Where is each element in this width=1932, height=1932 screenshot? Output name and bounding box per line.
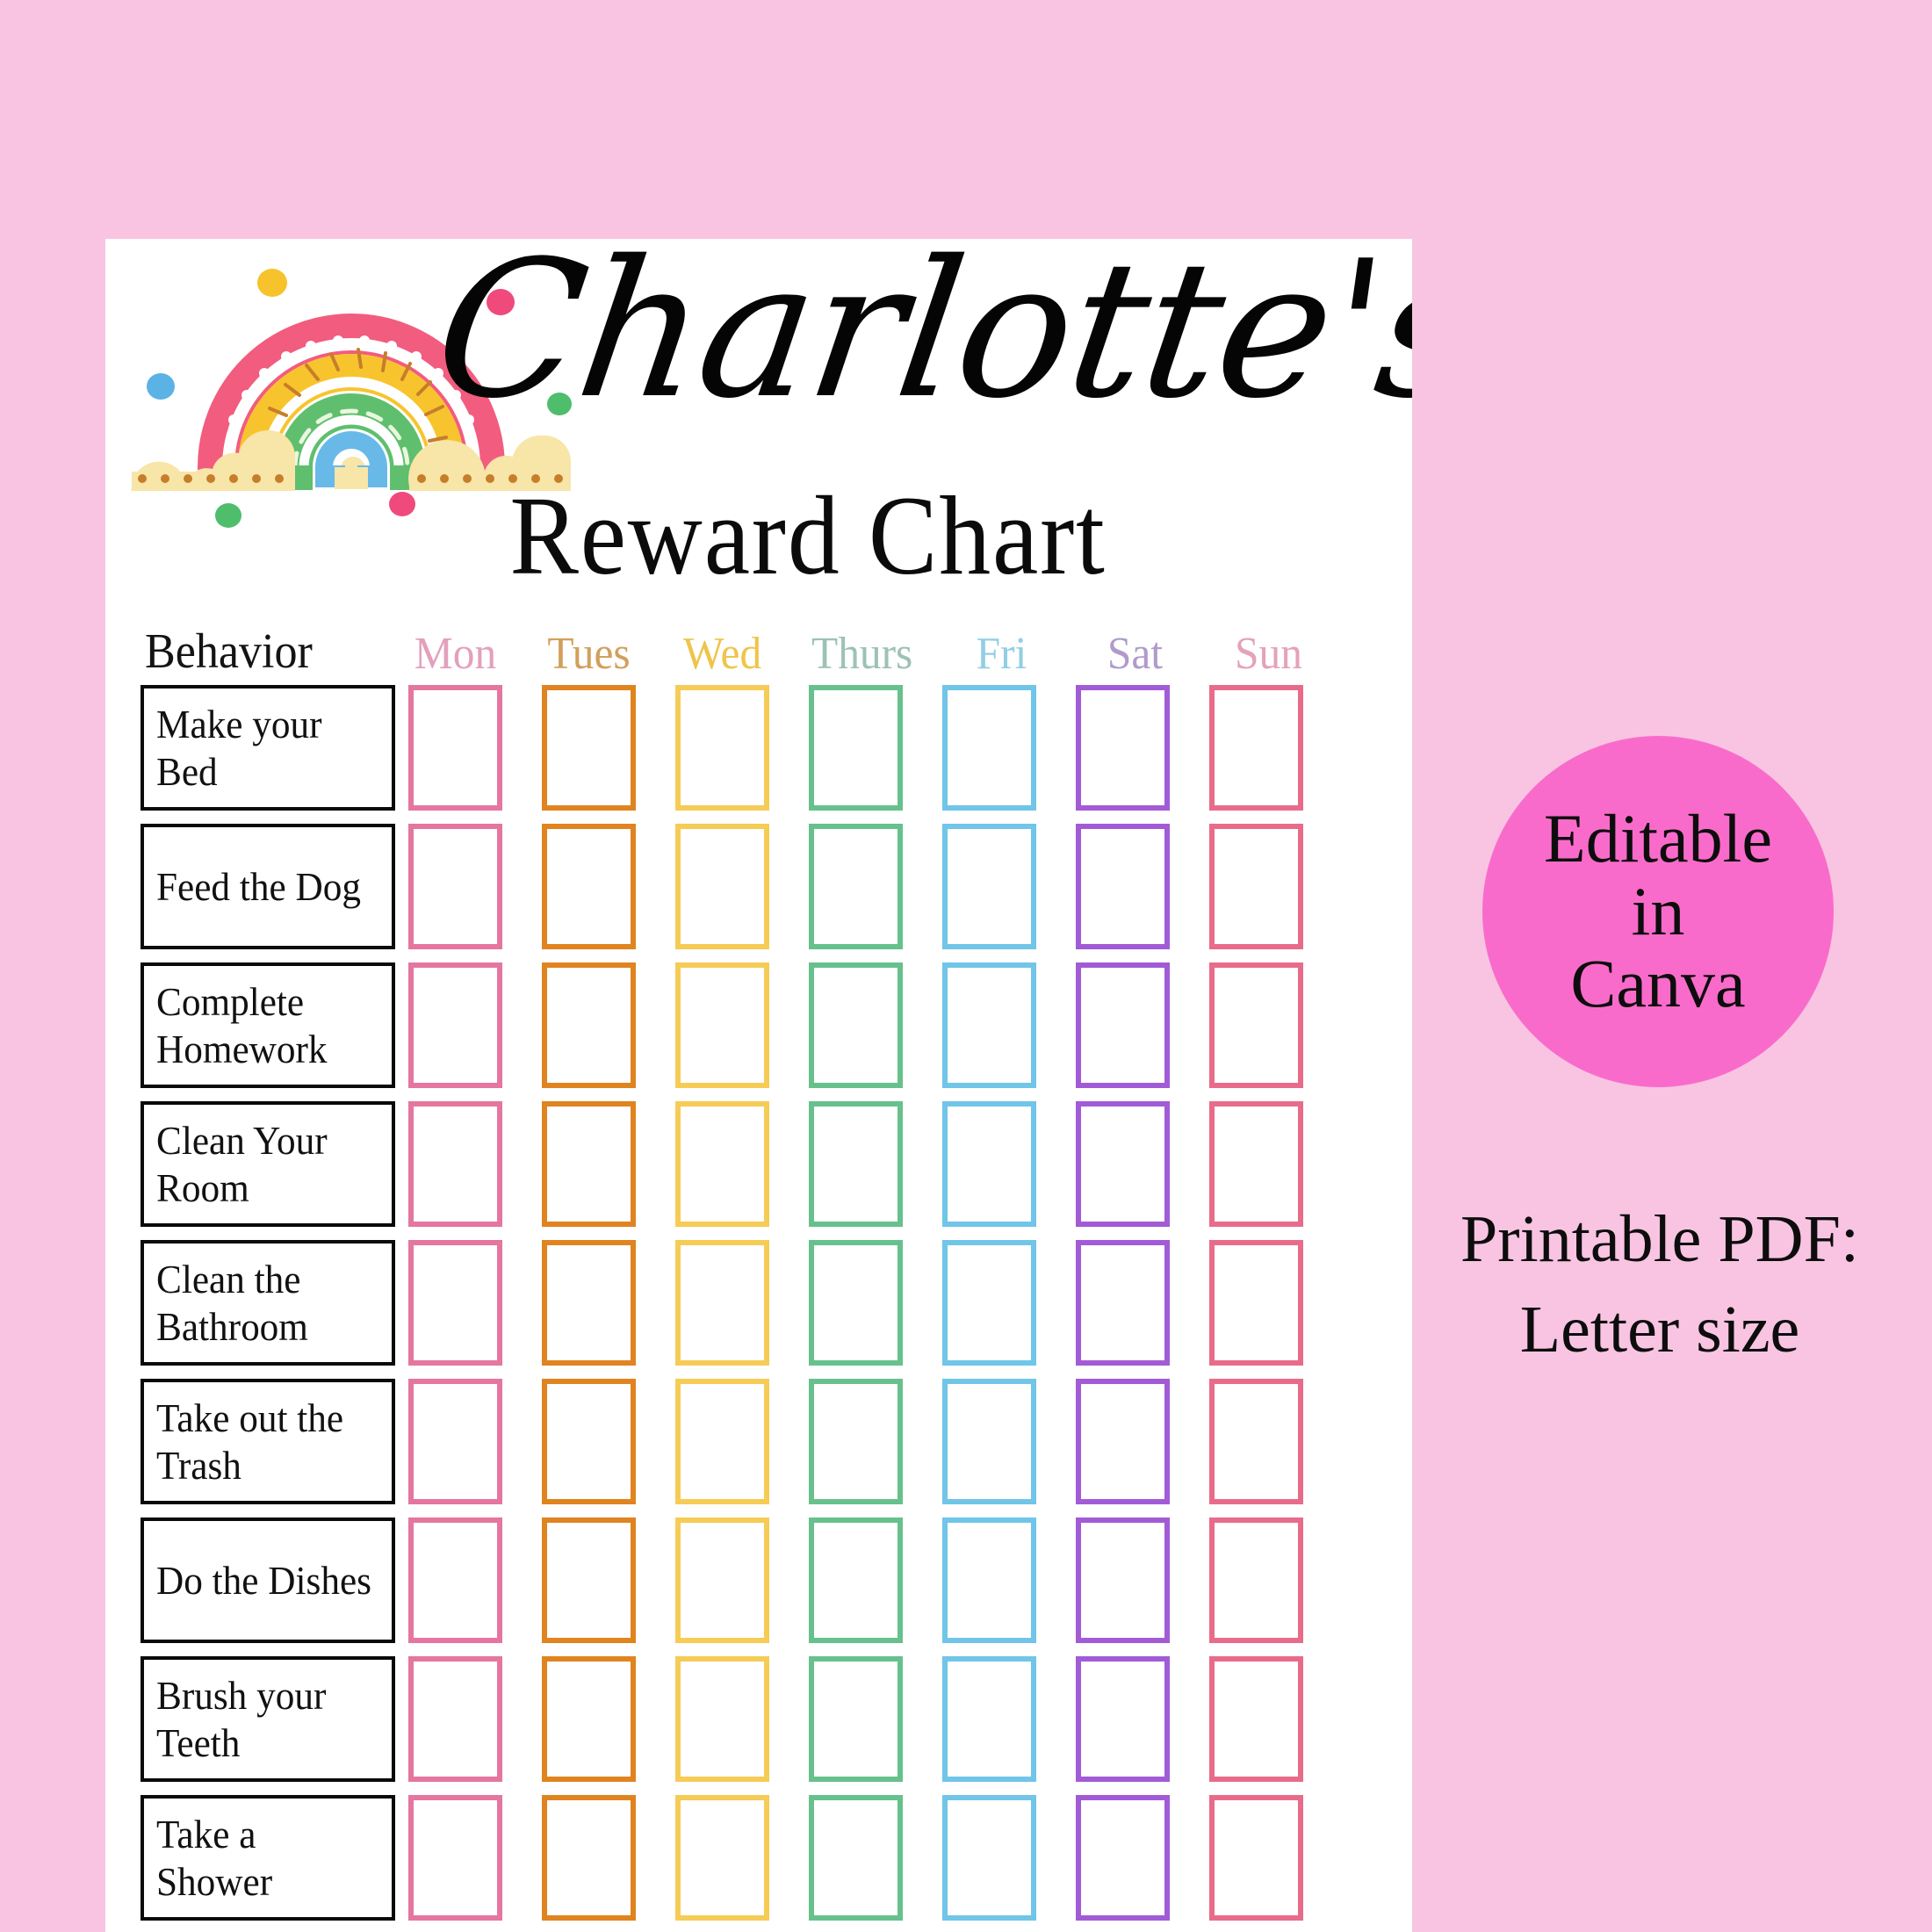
table-row: Clean the Bathroom <box>105 1240 1412 1366</box>
checkbox-cell-sun[interactable] <box>1209 1101 1303 1227</box>
checkbox-cell-mon[interactable] <box>408 962 502 1088</box>
checkbox-cell-fri[interactable] <box>942 685 1036 811</box>
behavior-label: Clean Your Room <box>156 1117 378 1211</box>
checkbox-cell-sun[interactable] <box>1209 824 1303 949</box>
checkbox-cell-mon[interactable] <box>408 1795 502 1921</box>
checkbox-cell-fri[interactable] <box>942 1656 1036 1782</box>
day-column-header-sun: Sun <box>1224 628 1314 680</box>
behavior-label: Take a Shower <box>156 1811 378 1905</box>
poster-canvas: Charlotte's Reward Chart Behavior MonTue… <box>0 0 1932 1932</box>
table-row: Take out the Trash <box>105 1379 1412 1504</box>
checkbox-cell-fri[interactable] <box>942 1101 1036 1227</box>
behavior-label: Take out the Trash <box>156 1395 378 1489</box>
table-row: Do the Dishes <box>105 1517 1412 1643</box>
checkbox-cell-thurs[interactable] <box>809 1240 903 1366</box>
checkbox-cell-sat[interactable] <box>1076 1101 1170 1227</box>
checkbox-cell-tues[interactable] <box>542 824 636 949</box>
checkbox-cell-thurs[interactable] <box>809 1101 903 1227</box>
behavior-label: Clean the Bathroom <box>156 1256 378 1350</box>
editable-in-canva-badge: Editable in Canva <box>1482 736 1834 1087</box>
checkbox-cell-tues[interactable] <box>542 1517 636 1643</box>
checkbox-cell-sun[interactable] <box>1209 1656 1303 1782</box>
badge-line-1: Editable <box>1544 803 1772 876</box>
day-column-header-wed: Wed <box>678 628 768 680</box>
behavior-label-cell: Take a Shower <box>141 1795 395 1921</box>
behavior-label-cell: Make your Bed <box>141 685 395 811</box>
checkbox-cell-thurs[interactable] <box>809 1656 903 1782</box>
day-column-header-fri: Fri <box>957 628 1047 680</box>
behavior-label: Do the Dishes <box>156 1557 371 1604</box>
checkbox-cell-tues[interactable] <box>542 962 636 1088</box>
chart-name-title: Charlotte's <box>422 239 1412 449</box>
checkbox-cell-sat[interactable] <box>1076 1795 1170 1921</box>
checkbox-cell-wed[interactable] <box>675 685 769 811</box>
checkbox-cell-wed[interactable] <box>675 1517 769 1643</box>
behavior-label-cell: Feed the Dog <box>141 824 395 949</box>
checkbox-cell-thurs[interactable] <box>809 824 903 949</box>
checkbox-cell-sat[interactable] <box>1076 962 1170 1088</box>
checkbox-cell-tues[interactable] <box>542 1795 636 1921</box>
behavior-label-cell: Clean the Bathroom <box>141 1240 395 1366</box>
checkbox-cell-tues[interactable] <box>542 1240 636 1366</box>
checkbox-cell-sat[interactable] <box>1076 1240 1170 1366</box>
checkbox-cell-wed[interactable] <box>675 1656 769 1782</box>
behavior-label-cell: Complete Homework <box>141 962 395 1088</box>
table-body: Make your BedFeed the DogComplete Homewo… <box>105 685 1412 1921</box>
checkbox-cell-thurs[interactable] <box>809 685 903 811</box>
table-header-row: Behavior MonTuesWedThursFriSatSun <box>105 625 1412 685</box>
checkbox-cell-thurs[interactable] <box>809 1517 903 1643</box>
checkbox-cell-wed[interactable] <box>675 1795 769 1921</box>
checkbox-cell-mon[interactable] <box>408 1656 502 1782</box>
table-row: Make your Bed <box>105 685 1412 811</box>
day-column-header-sat: Sat <box>1091 628 1180 680</box>
reward-chart-card: Charlotte's Reward Chart Behavior MonTue… <box>105 239 1412 1932</box>
checkbox-cell-fri[interactable] <box>942 1240 1036 1366</box>
behavior-label-cell: Clean Your Room <box>141 1101 395 1227</box>
checkbox-cell-sun[interactable] <box>1209 685 1303 811</box>
checkbox-cell-fri[interactable] <box>942 1379 1036 1504</box>
chart-header: Charlotte's Reward Chart <box>105 239 1412 634</box>
checkbox-cell-thurs[interactable] <box>809 962 903 1088</box>
checkbox-cell-sat[interactable] <box>1076 1517 1170 1643</box>
checkbox-cell-thurs[interactable] <box>809 1379 903 1504</box>
checkbox-cell-sat[interactable] <box>1076 685 1170 811</box>
behavior-label: Make your Bed <box>156 701 378 795</box>
table-row: Take a Shower <box>105 1795 1412 1921</box>
checkbox-cell-mon[interactable] <box>408 1240 502 1366</box>
checkbox-cell-mon[interactable] <box>408 1379 502 1504</box>
checkbox-cell-sat[interactable] <box>1076 1656 1170 1782</box>
checkbox-cell-wed[interactable] <box>675 824 769 949</box>
chart-subtitle: Reward Chart <box>258 472 1357 601</box>
checkbox-cell-sun[interactable] <box>1209 1240 1303 1366</box>
behavior-label: Brush your Teeth <box>156 1672 378 1766</box>
checkbox-cell-wed[interactable] <box>675 1379 769 1504</box>
checkbox-cell-sat[interactable] <box>1076 824 1170 949</box>
checkbox-cell-fri[interactable] <box>942 824 1036 949</box>
checkbox-cell-sun[interactable] <box>1209 1795 1303 1921</box>
day-column-header-thurs: Thurs <box>811 628 912 680</box>
behavior-label: Feed the Dog <box>156 863 361 910</box>
behavior-label-cell: Brush your Teeth <box>141 1656 395 1782</box>
checkbox-cell-tues[interactable] <box>542 685 636 811</box>
behavior-label: Complete Homework <box>156 978 378 1072</box>
table-row: Complete Homework <box>105 962 1412 1088</box>
table-row: Clean Your Room <box>105 1101 1412 1227</box>
checkbox-cell-mon[interactable] <box>408 1517 502 1643</box>
behavior-label-cell: Take out the Trash <box>141 1379 395 1504</box>
table-row: Feed the Dog <box>105 824 1412 949</box>
checkbox-cell-mon[interactable] <box>408 1101 502 1227</box>
promo-line-1: Printable PDF: <box>1423 1194 1897 1285</box>
checkbox-cell-sat[interactable] <box>1076 1379 1170 1504</box>
behavior-label-cell: Do the Dishes <box>141 1517 395 1643</box>
badge-line-2: in <box>1632 876 1685 948</box>
checkbox-cell-fri[interactable] <box>942 962 1036 1088</box>
checkbox-cell-tues[interactable] <box>542 1379 636 1504</box>
checkbox-cell-wed[interactable] <box>675 1240 769 1366</box>
checkbox-cell-wed[interactable] <box>675 1101 769 1227</box>
day-column-header-mon: Mon <box>411 628 501 680</box>
checkbox-cell-sun[interactable] <box>1209 962 1303 1088</box>
checkbox-cell-mon[interactable] <box>408 824 502 949</box>
promo-line-2: Letter size <box>1423 1285 1897 1375</box>
checkbox-cell-wed[interactable] <box>675 962 769 1088</box>
checkbox-cell-mon[interactable] <box>408 685 502 811</box>
checkbox-cell-fri[interactable] <box>942 1517 1036 1643</box>
checkbox-cell-tues[interactable] <box>542 1656 636 1782</box>
checkbox-cell-tues[interactable] <box>542 1101 636 1227</box>
behavior-column-header: Behavior <box>145 624 390 680</box>
reward-table: Behavior MonTuesWedThursFriSatSun Make y… <box>105 625 1412 1932</box>
checkbox-cell-fri[interactable] <box>942 1795 1036 1921</box>
day-column-header-tues: Tues <box>544 628 634 680</box>
checkbox-cell-thurs[interactable] <box>809 1795 903 1921</box>
checkbox-cell-sun[interactable] <box>1209 1379 1303 1504</box>
table-row: Brush your Teeth <box>105 1656 1412 1782</box>
printable-pdf-note: Printable PDF: Letter size <box>1423 1194 1897 1374</box>
badge-line-3: Canva <box>1570 948 1745 1020</box>
checkbox-cell-sun[interactable] <box>1209 1517 1303 1643</box>
